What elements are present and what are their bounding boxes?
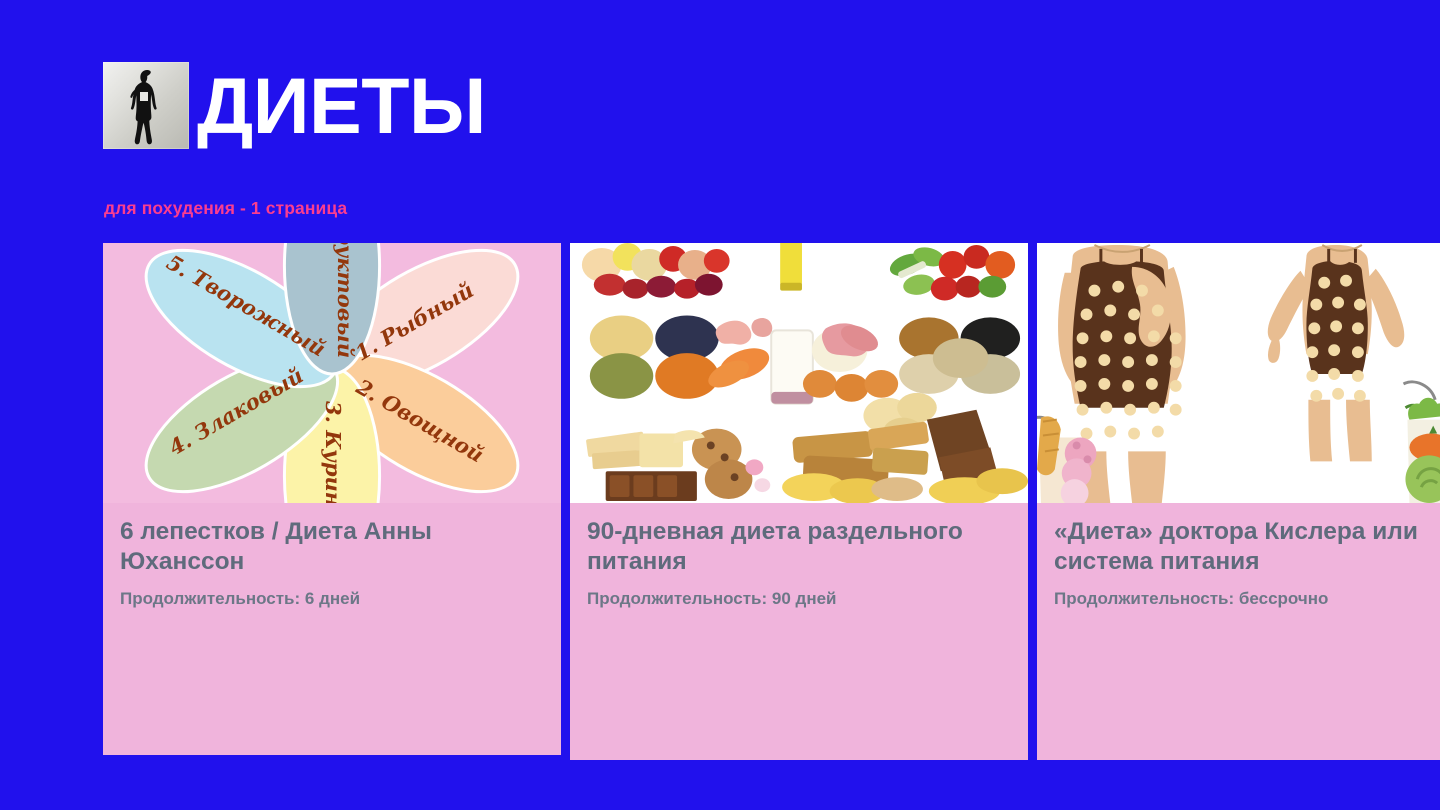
- woman-silhouette-icon: [103, 62, 189, 149]
- diet-title: «Диета» доктора Кислера или система пита…: [1054, 517, 1436, 577]
- diet-duration: Продолжительность: бессрочно: [1054, 589, 1436, 609]
- page-subtitle: для похудения - 1 страница: [104, 198, 347, 219]
- page-root: ДИЕТЫ для похудения - 1 страница: [0, 0, 1440, 810]
- diet-card[interactable]: 90-дневная диета раздельного питания Про…: [568, 241, 1030, 762]
- petal-label-3: 3. Куриный: [321, 401, 346, 503]
- before-after-women-illustration: [1037, 243, 1440, 503]
- diet-card-list: 1. Рыбный 2. Овощной 3. Куриный 4. Злако…: [101, 241, 1440, 763]
- site-header: ДИЕТЫ: [103, 62, 486, 149]
- card-body: 6 лепестков / Диета Анны Юханссон Продол…: [103, 503, 561, 755]
- petal-label-6: 6. Фруктовый: [333, 243, 358, 358]
- oil-bottle: [780, 243, 802, 291]
- card-body: 90-дневная диета раздельного питания Про…: [570, 503, 1028, 760]
- diet-card[interactable]: 1. Рыбный 2. Овощной 3. Куриный 4. Злако…: [101, 241, 563, 757]
- diet-duration: Продолжительность: 90 дней: [587, 589, 1011, 609]
- card-body: «Диета» доктора Кислера или система пита…: [1037, 503, 1440, 760]
- petal-flower-diagram: 1. Рыбный 2. Овощной 3. Куриный 4. Злако…: [103, 243, 561, 503]
- diet-duration: Продолжительность: 6 дней: [120, 589, 544, 609]
- diet-card[interactable]: «Диета» доктора Кислера или система пита…: [1035, 241, 1440, 762]
- page-title: ДИЕТЫ: [197, 68, 486, 143]
- diet-title: 90-дневная диета раздельного питания: [587, 517, 1011, 577]
- diet-title: 6 лепестков / Диета Анны Юханссон: [120, 517, 544, 577]
- food-groups-photo: [570, 243, 1028, 503]
